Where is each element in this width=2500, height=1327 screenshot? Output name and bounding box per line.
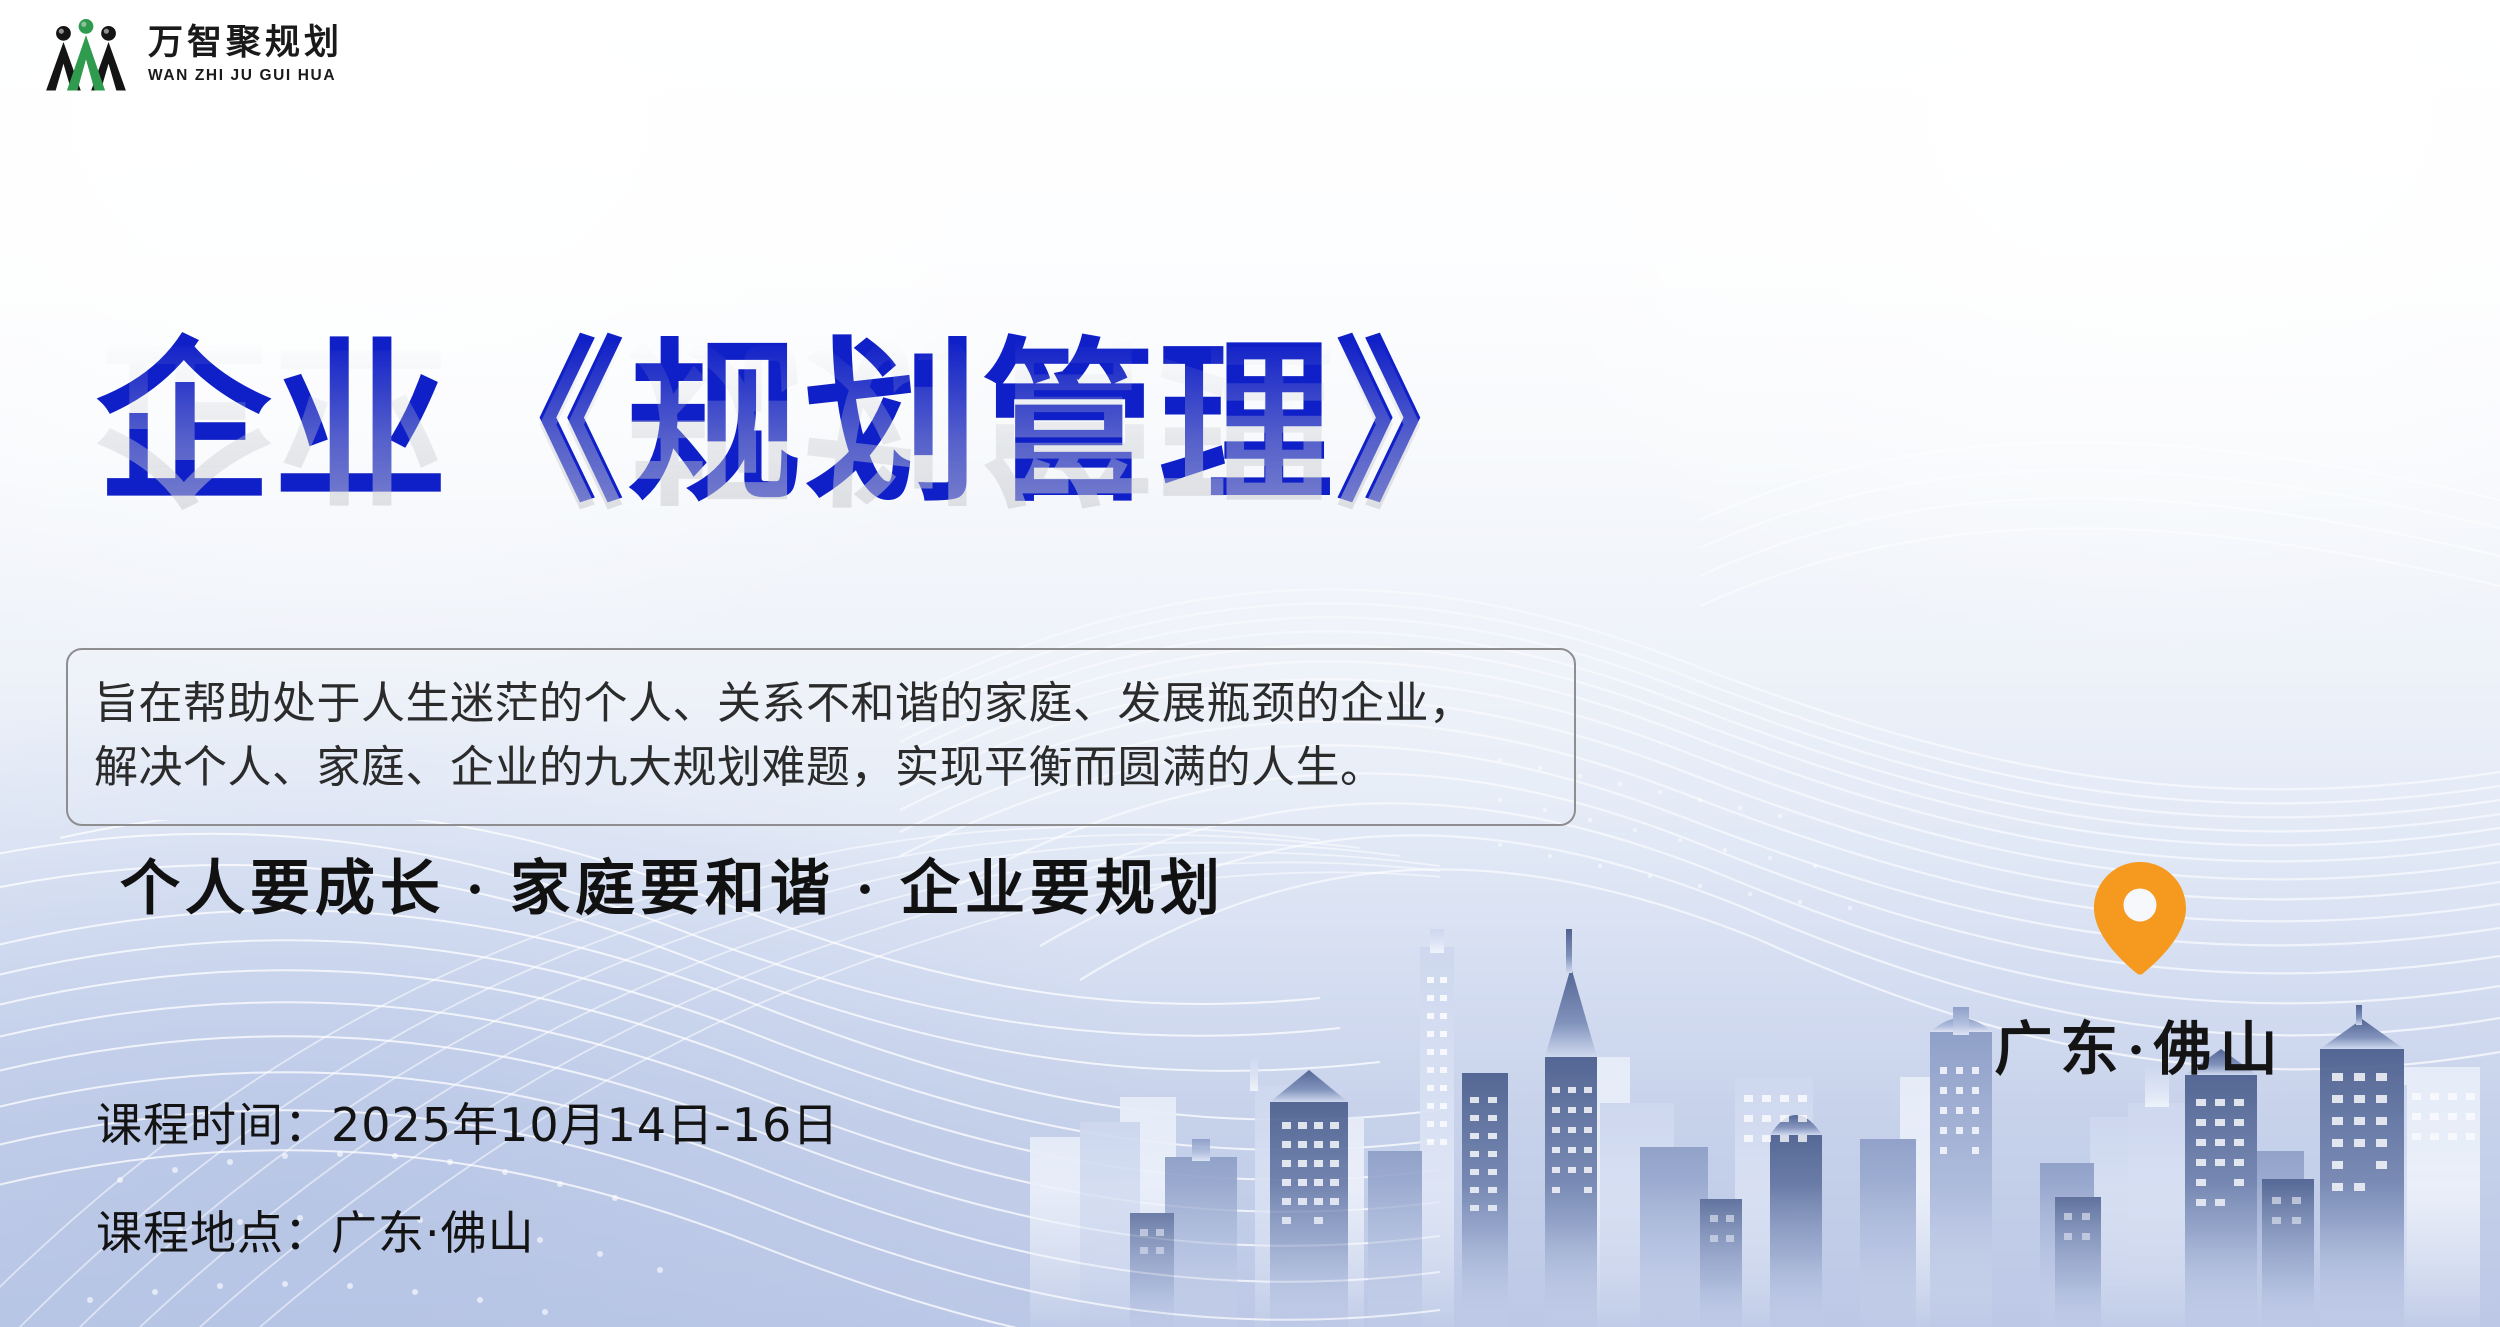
course-place-line: 课程地点：广东·佛山 — [96, 1197, 839, 1263]
description-line-1: 旨在帮助处于人生迷茫的个人、关系不和谐的家庭、发展瓶颈的企业， — [94, 672, 1548, 736]
three-people-mountain-logo — [42, 16, 130, 94]
course-meta: 课程时间：2025年10月14日-16日 课程地点：广东·佛山 — [96, 1089, 839, 1263]
description-box: 旨在帮助处于人生迷茫的个人、关系不和谐的家庭、发展瓶颈的企业， 解决个人、家庭、… — [66, 648, 1576, 826]
brand-name-en: WAN ZHI JU GUI HUA — [148, 67, 343, 85]
course-time-line: 课程时间：2025年10月14日-16日 — [96, 1089, 839, 1155]
map-pin-icon — [2090, 860, 2190, 976]
brand-logo: 万智聚规划 WAN ZHI JU GUI HUA — [42, 16, 343, 94]
main-title-block: 企业《规划管理》 企业《规划管理》 — [96, 332, 1616, 662]
page-title-reflection: 企业《规划管理》 — [96, 325, 1512, 511]
description-line-2: 解决个人、家庭、企业的九大规划难题，实现平衡而圆满的人生。 — [94, 736, 1548, 800]
slogan-text: 个人要成长 · 家庭要和谐 · 企业要规划 — [120, 840, 1225, 927]
poster-canvas: 万智聚规划 WAN ZHI JU GUI HUA 企业《规划管理》 企业《规划管… — [0, 0, 2500, 1327]
location-pin-group: 广东·佛山 — [1960, 860, 2320, 1086]
brand-name-cn: 万智聚规划 — [148, 25, 343, 62]
location-label: 广东·佛山 — [1960, 1002, 2320, 1086]
